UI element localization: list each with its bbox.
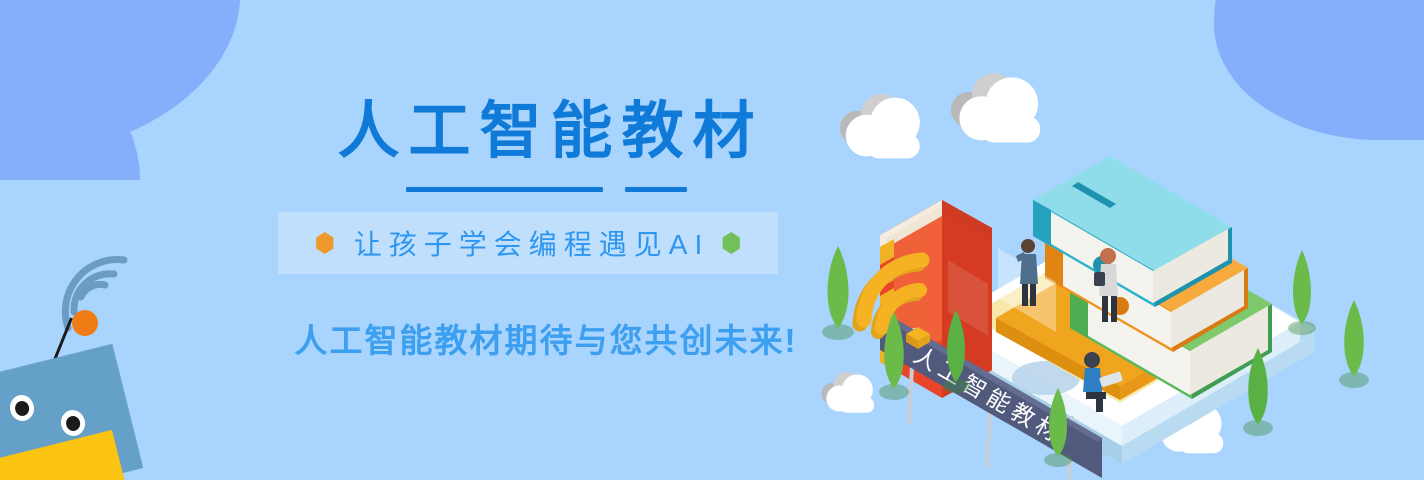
robot-pupil-left	[14, 400, 31, 418]
tagline-text: 人工智能教材期待与您共创未来!	[236, 314, 856, 362]
ai-textbook-banner: 人工智能教材 让孩子学会编程遇见AI 人工智能教材期待与您共创未来!	[0, 0, 1424, 480]
tree-left-far	[822, 246, 854, 340]
headline-block: 人工智能教材 让孩子学会编程遇见AI 人工智能教材期待与您共创未来!	[236, 92, 856, 372]
title-divider	[236, 178, 856, 200]
subtitle-text: 让孩子学会编程遇见AI	[347, 223, 709, 263]
page-title: 人工智能教材	[236, 92, 856, 172]
hexagon-bullet-left-icon	[315, 232, 335, 254]
title-divider-long	[406, 187, 603, 192]
isometric-books-illustration: 人工智能教材	[820, 60, 1424, 480]
robot-antenna-ball-icon	[72, 310, 98, 336]
tree-right-mid	[1339, 300, 1369, 388]
title-divider-short	[625, 187, 687, 192]
cloud-top-center-icon	[951, 73, 1040, 142]
subtitle-band: 让孩子学会编程遇见AI	[278, 212, 778, 274]
ai-robot-mascot	[0, 240, 200, 480]
cloud-left-lower-icon	[821, 372, 874, 413]
hexagon-bullet-right-icon	[721, 232, 741, 254]
cloud-top-left-icon	[840, 94, 920, 159]
